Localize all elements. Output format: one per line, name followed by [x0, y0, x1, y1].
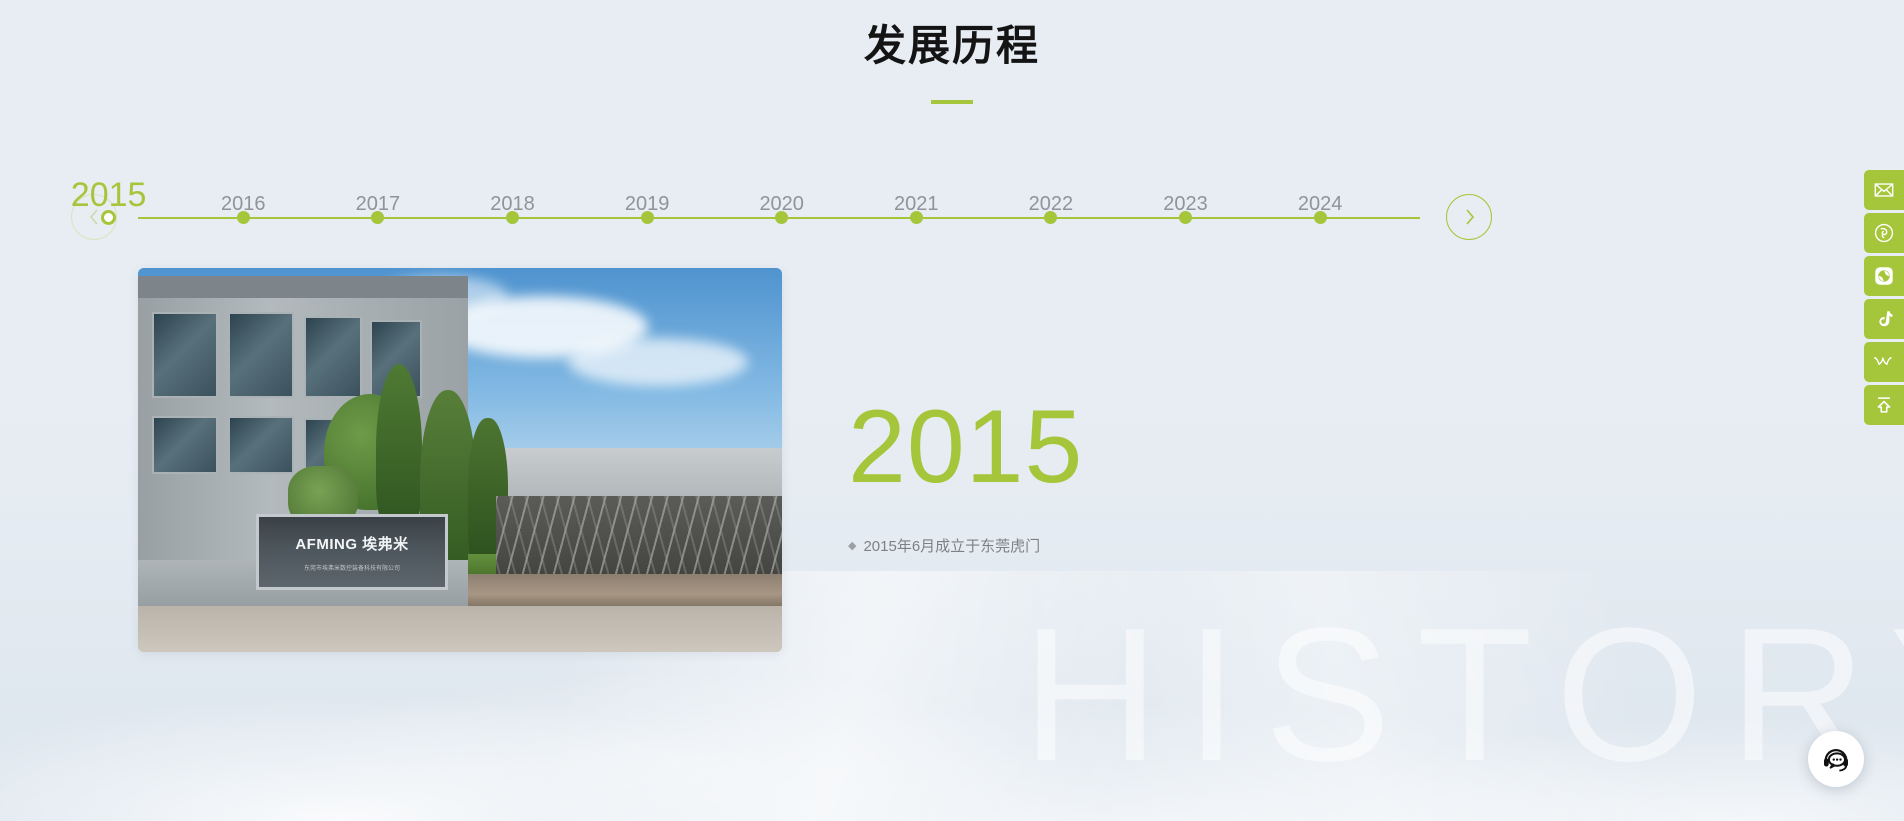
bullet-icon: ◆ — [848, 538, 856, 556]
rail-item-email[interactable] — [1864, 170, 1904, 210]
timeline-dot — [371, 211, 384, 224]
back-to-top-icon — [1873, 394, 1895, 416]
photo-pavement — [138, 606, 782, 652]
rail-item-tiktok[interactable] — [1864, 299, 1904, 339]
page-title: 发展历程 — [0, 22, 1904, 70]
timeline-next-button[interactable] — [1446, 194, 1492, 240]
chevron-right-icon — [1463, 207, 1476, 227]
detail-year: 2015 — [848, 398, 1083, 497]
detail-event-list: ◆2015年6月成立于东莞虎门 — [848, 535, 1083, 559]
rail-item-weibo[interactable] — [1864, 342, 1904, 382]
social-side-rail — [1864, 170, 1904, 425]
weibo-icon — [1872, 351, 1896, 373]
phone-icon — [1873, 222, 1895, 244]
photo-window — [152, 416, 218, 474]
detail-event-text: 2015年6月成立于东莞虎门 — [863, 535, 1040, 559]
timeline-track: 2015201620172018201920202021202220232024 — [138, 156, 1420, 252]
timeline-dot — [1044, 211, 1057, 224]
chat-support-button[interactable] — [1808, 731, 1864, 787]
timeline-content: AFMING 埃弗米 东莞市埃弗米数控装备科技有限公司 2015 ◆2015年6… — [0, 268, 1904, 652]
timeline-dot — [1179, 211, 1192, 224]
headset-chat-icon — [1821, 744, 1851, 774]
tiktok-icon — [1874, 308, 1895, 330]
rail-item-back-to-top[interactable] — [1864, 385, 1904, 425]
detail-event: ◆2015年6月成立于东莞虎门 — [848, 535, 1083, 559]
timeline-dot — [641, 211, 654, 224]
envelope-icon — [1873, 179, 1895, 201]
timeline: 2015201620172018201920202021202220232024 — [0, 156, 1904, 252]
milestone-detail: 2015 ◆2015年6月成立于东莞虎门 — [848, 268, 1083, 652]
app-icon — [1873, 265, 1895, 287]
timeline-dot — [506, 211, 519, 224]
photo-sign-main-text: AFMING 埃弗米 — [295, 533, 408, 554]
timeline-year-label: 2015 — [71, 178, 147, 212]
photo-cloud — [568, 338, 748, 386]
milestone-photo: AFMING 埃弗米 东莞市埃弗米数控装备科技有限公司 — [138, 268, 782, 652]
timeline-dot — [101, 210, 116, 225]
title-underline — [931, 100, 973, 104]
photo-sign-sub-text: 东莞市埃弗米数控装备科技有限公司 — [304, 563, 400, 572]
page-header: 发展历程 — [0, 0, 1904, 104]
photo-company-sign: AFMING 埃弗米 东莞市埃弗米数控装备科技有限公司 — [256, 514, 448, 590]
timeline-dot — [910, 211, 923, 224]
photo-tree — [376, 364, 422, 534]
photo-window — [228, 416, 294, 474]
photo-window — [152, 312, 218, 398]
timeline-dot — [1314, 211, 1327, 224]
photo-building-roof — [138, 276, 468, 298]
timeline-dot — [237, 211, 250, 224]
rail-item-phone[interactable] — [1864, 213, 1904, 253]
photo-window — [228, 312, 294, 398]
photo-window — [304, 316, 362, 398]
timeline-dot — [775, 211, 788, 224]
rail-item-app[interactable] — [1864, 256, 1904, 296]
